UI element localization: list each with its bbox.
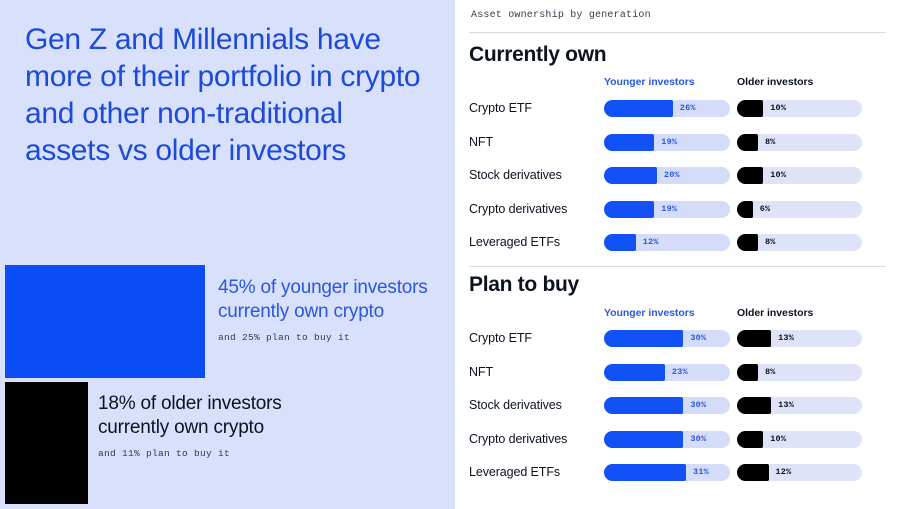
bar-older-investors: 8%	[737, 134, 862, 151]
bar-value-label: 6%	[760, 201, 771, 218]
bar-fill	[604, 167, 657, 184]
row-label-stock-derivatives: Stock derivatives	[469, 398, 562, 412]
bar-younger-investors: 30%	[604, 397, 730, 414]
bar-fill	[737, 167, 763, 184]
bar-fill	[604, 234, 636, 251]
younger-stat-text: 45% of younger investors currently own c…	[218, 276, 453, 343]
bar-younger-investors: 23%	[604, 364, 730, 381]
bar-fill	[737, 431, 763, 448]
bar-fill	[737, 100, 763, 117]
bar-value-label: 10%	[770, 431, 786, 448]
bar-value-label: 8%	[765, 234, 776, 251]
bar-older-investors: 6%	[737, 201, 862, 218]
row-label-crypto-derivatives: Crypto derivatives	[469, 432, 567, 446]
bar-track	[737, 201, 862, 218]
older-stat-headline: 18% of older investors currently own cry…	[98, 392, 333, 441]
column-header-younger-plan-to-buy: Younger investors	[604, 307, 695, 319]
bar-fill	[737, 397, 771, 414]
section-title-plan-to-buy: Plan to buy	[469, 273, 579, 297]
chart-row: NFT23%8%	[455, 364, 900, 384]
older-stat-text: 18% of older investors currently own cry…	[98, 392, 333, 459]
bar-fill	[604, 201, 654, 218]
chart-row: Stock derivatives20%10%	[455, 167, 900, 187]
bar-value-label: 10%	[770, 167, 786, 184]
bar-younger-investors: 26%	[604, 100, 730, 117]
bar-older-investors: 10%	[737, 431, 862, 448]
bar-fill	[604, 397, 683, 414]
bar-fill	[737, 330, 771, 347]
bar-value-label: 19%	[661, 134, 677, 151]
bar-younger-investors: 12%	[604, 234, 730, 251]
bar-older-investors: 13%	[737, 330, 862, 347]
bar-fill	[737, 464, 769, 481]
bar-older-investors: 10%	[737, 100, 862, 117]
younger-stat-headline: 45% of younger investors currently own c…	[218, 276, 453, 325]
older-stat-subtext: and 11% plan to buy it	[98, 448, 333, 459]
bar-fill	[604, 330, 683, 347]
bar-value-label: 30%	[690, 431, 706, 448]
bar-fill	[737, 201, 753, 218]
page-title: Gen Z and Millennials have more of their…	[25, 22, 425, 170]
bar-value-label: 30%	[690, 330, 706, 347]
bar-younger-investors: 30%	[604, 330, 730, 347]
chart-row: Crypto derivatives19%6%	[455, 201, 900, 221]
chart-row: NFT19%8%	[455, 134, 900, 154]
bar-fill	[737, 234, 758, 251]
row-label-crypto-derivatives: Crypto derivatives	[469, 202, 567, 216]
row-label-leveraged-etfs: Leveraged ETFs	[469, 235, 560, 249]
chart-row: Crypto ETF26%10%	[455, 100, 900, 120]
right-panel: Asset ownership by generation Currently …	[455, 0, 900, 509]
bar-value-label: 31%	[693, 464, 709, 481]
bar-younger-investors: 20%	[604, 167, 730, 184]
row-label-crypto-etf: Crypto ETF	[469, 101, 532, 115]
bar-fill	[604, 100, 673, 117]
infographic-root: Gen Z and Millennials have more of their…	[0, 0, 900, 509]
column-header-older-plan-to-buy: Older investors	[737, 307, 813, 319]
bar-younger-investors: 31%	[604, 464, 730, 481]
bar-fill	[604, 431, 683, 448]
bar-fill	[604, 464, 686, 481]
bar-value-label: 13%	[778, 397, 794, 414]
section-title-currently-own: Currently own	[469, 43, 606, 67]
bar-older-investors: 10%	[737, 167, 862, 184]
bar-value-label: 12%	[643, 234, 659, 251]
column-header-younger-currently-own: Younger investors	[604, 76, 695, 88]
bar-value-label: 19%	[661, 201, 677, 218]
bar-value-label: 26%	[680, 100, 696, 117]
row-label-leveraged-etfs: Leveraged ETFs	[469, 465, 560, 479]
row-label-crypto-etf: Crypto ETF	[469, 331, 532, 345]
chart-row: Crypto derivatives30%10%	[455, 431, 900, 451]
younger-stat-subtext: and 25% plan to buy it	[218, 332, 453, 343]
bar-younger-investors: 30%	[604, 431, 730, 448]
bar-older-investors: 8%	[737, 234, 862, 251]
bar-value-label: 12%	[776, 464, 792, 481]
older-stat-color-block	[5, 382, 88, 504]
bar-value-label: 20%	[664, 167, 680, 184]
column-header-older-currently-own: Older investors	[737, 76, 813, 88]
row-label-stock-derivatives: Stock derivatives	[469, 168, 562, 182]
younger-stat-color-block	[5, 265, 205, 378]
bar-value-label: 13%	[778, 330, 794, 347]
bar-value-label: 8%	[765, 364, 776, 381]
left-panel: Gen Z and Millennials have more of their…	[0, 0, 455, 509]
bar-younger-investors: 19%	[604, 201, 730, 218]
bar-value-label: 10%	[770, 100, 786, 117]
bar-fill	[604, 364, 665, 381]
chart-row: Crypto ETF30%13%	[455, 330, 900, 350]
bar-older-investors: 13%	[737, 397, 862, 414]
bar-value-label: 8%	[765, 134, 776, 151]
bar-older-investors: 8%	[737, 364, 862, 381]
bar-fill	[737, 364, 758, 381]
chart-row: Stock derivatives30%13%	[455, 397, 900, 417]
bar-value-label: 30%	[690, 397, 706, 414]
bar-fill	[737, 134, 758, 151]
row-label-nft: NFT	[469, 135, 493, 149]
chart-kicker: Asset ownership by generation	[471, 10, 651, 21]
row-label-nft: NFT	[469, 365, 493, 379]
chart-row: Leveraged ETFs12%8%	[455, 234, 900, 254]
bar-fill	[604, 134, 654, 151]
divider-top	[469, 32, 886, 33]
bar-younger-investors: 19%	[604, 134, 730, 151]
bar-older-investors: 12%	[737, 464, 862, 481]
chart-row: Leveraged ETFs31%12%	[455, 464, 900, 484]
divider-middle	[469, 266, 886, 267]
bar-value-label: 23%	[672, 364, 688, 381]
